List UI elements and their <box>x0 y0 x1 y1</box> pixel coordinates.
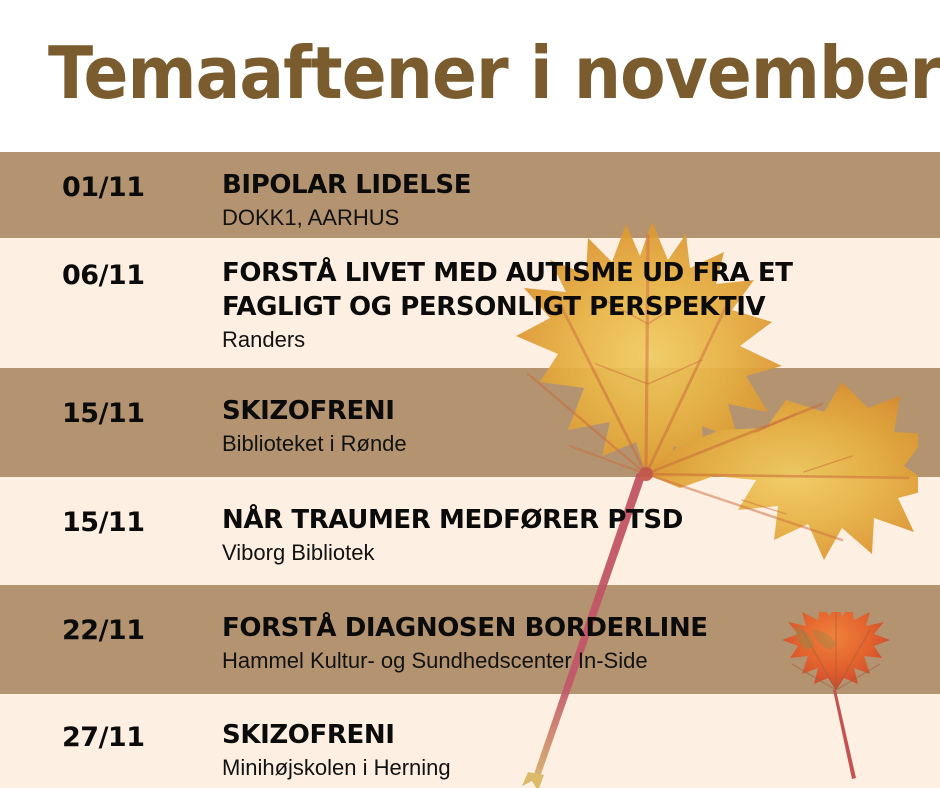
event-details: FORSTÅ LIVET MED AUTISME UD FRA ETFAGLIG… <box>222 256 922 355</box>
event-venue: DOKK1, AARHUS <box>222 203 922 233</box>
event-date: 15/11 <box>62 507 202 538</box>
table-row[interactable]: 15/11NÅR TRAUMER MEDFØRER PTSDViborg Bib… <box>0 477 940 585</box>
event-details: SKIZOFRENIBiblioteket i Rønde <box>222 394 922 459</box>
event-details: FORSTÅ DIAGNOSEN BORDERLINEHammel Kultur… <box>222 611 922 676</box>
event-date: 15/11 <box>62 398 202 429</box>
table-row[interactable]: 15/11SKIZOFRENIBiblioteket i Rønde <box>0 368 940 477</box>
event-title: FORSTÅ DIAGNOSEN BORDERLINE <box>222 611 922 645</box>
event-title: FAGLIGT OG PERSONLIGT PERSPEKTIV <box>222 290 922 324</box>
event-venue: Hammel Kultur- og Sundhedscenter In-Side <box>222 646 922 676</box>
page-title: Temaaftener i november <box>48 25 940 121</box>
event-date: 06/11 <box>62 260 202 291</box>
event-title: NÅR TRAUMER MEDFØRER PTSD <box>222 503 922 537</box>
event-details: BIPOLAR LIDELSEDOKK1, AARHUS <box>222 168 922 233</box>
table-row[interactable]: 01/11BIPOLAR LIDELSEDOKK1, AARHUS <box>0 152 940 238</box>
event-title: SKIZOFRENI <box>222 718 922 752</box>
event-venue: Minihøjskolen i Herning <box>222 753 922 783</box>
event-date: 22/11 <box>62 615 202 646</box>
table-row[interactable]: 27/11SKIZOFRENIMinihøjskolen i Herning <box>0 694 940 788</box>
event-venue: Viborg Bibliotek <box>222 538 922 568</box>
event-venue: Randers <box>222 325 922 355</box>
table-row[interactable]: 22/11FORSTÅ DIAGNOSEN BORDERLINEHammel K… <box>0 585 940 694</box>
event-title: BIPOLAR LIDELSE <box>222 168 922 202</box>
poster-canvas: Temaaftener i november 01/11BIPOLAR LIDE… <box>0 0 940 788</box>
event-venue: Biblioteket i Rønde <box>222 429 922 459</box>
poster-header: Temaaftener i november <box>0 0 940 152</box>
table-row[interactable]: 06/11FORSTÅ LIVET MED AUTISME UD FRA ETF… <box>0 238 940 368</box>
event-date: 01/11 <box>62 172 202 203</box>
event-date: 27/11 <box>62 722 202 753</box>
event-details: SKIZOFRENIMinihøjskolen i Herning <box>222 718 922 783</box>
event-details: NÅR TRAUMER MEDFØRER PTSDViborg Bibliote… <box>222 503 922 568</box>
event-title: SKIZOFRENI <box>222 394 922 428</box>
event-title: FORSTÅ LIVET MED AUTISME UD FRA ET <box>222 256 922 290</box>
